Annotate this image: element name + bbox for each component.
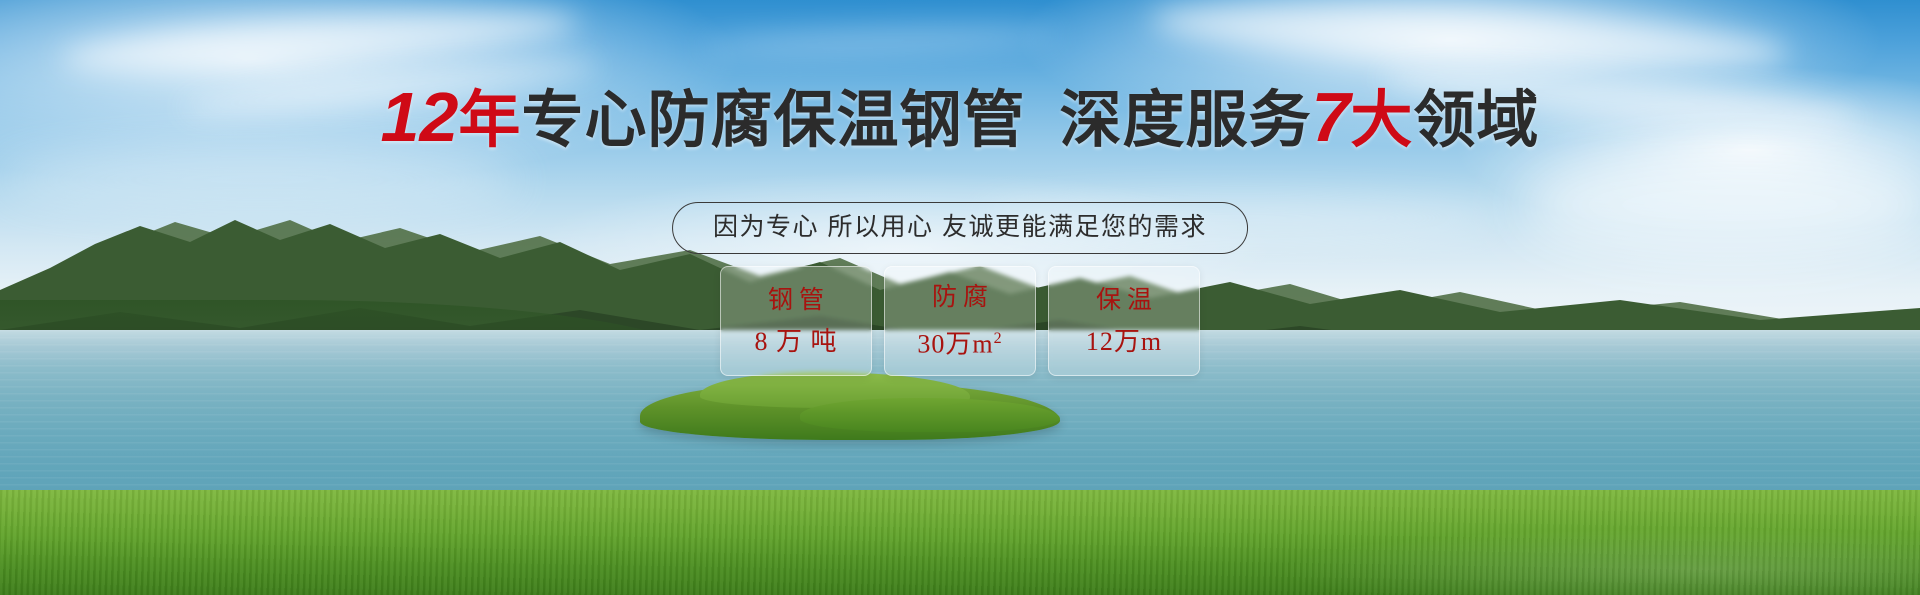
banner-subtitle-pill: 因为专心 所以用心 友诚更能满足您的需求 [672, 202, 1248, 254]
stat-card-value-text: 8 万 吨 [754, 327, 837, 356]
stat-card-value-text: 30万m [917, 330, 993, 359]
stat-card-value: 30万m2 [917, 325, 1002, 359]
stat-card-value: 12万m [1086, 328, 1162, 356]
stat-card-title: 钢管 [762, 286, 830, 314]
stat-card-value-superscript: 2 [994, 330, 1003, 347]
stat-card-insulation[interactable]: 保温 12万m [1048, 266, 1200, 376]
stat-card-value: 8 万 吨 [754, 328, 837, 356]
headline-fields-text: 领域 [1413, 86, 1539, 155]
stat-card-title: 保温 [1090, 286, 1158, 314]
headline-service-text: 深度服务 [1059, 86, 1311, 155]
stat-card-title: 防腐 [926, 283, 994, 311]
stat-card-steel-pipe[interactable]: 钢管 8 万 吨 [720, 266, 872, 376]
headline-years-unit: 年 [458, 86, 521, 155]
stat-card-anticorrosion[interactable]: 防腐 30万m2 [884, 266, 1036, 376]
stat-card-group: 钢管 8 万 吨 防腐 30万m2 保温 12万m [720, 266, 1200, 376]
banner-content: 12年专心防腐保温钢管深度服务7大领域 因为专心 所以用心 友诚更能满足您的需求… [0, 0, 1920, 595]
headline-main-text: 专心防腐保温钢管 [521, 86, 1025, 155]
stat-card-value-text: 12万m [1086, 327, 1162, 356]
headline-fields-number: 7 [1311, 78, 1350, 156]
banner-subtitle-text: 因为专心 所以用心 友诚更能满足您的需求 [713, 213, 1207, 241]
headline-fields-unit: 大 [1350, 86, 1413, 155]
banner-headline: 12年专心防腐保温钢管深度服务7大领域 [0, 84, 1920, 154]
promo-banner: 12年专心防腐保温钢管深度服务7大领域 因为专心 所以用心 友诚更能满足您的需求… [0, 0, 1920, 595]
headline-years-number: 12 [381, 78, 459, 156]
